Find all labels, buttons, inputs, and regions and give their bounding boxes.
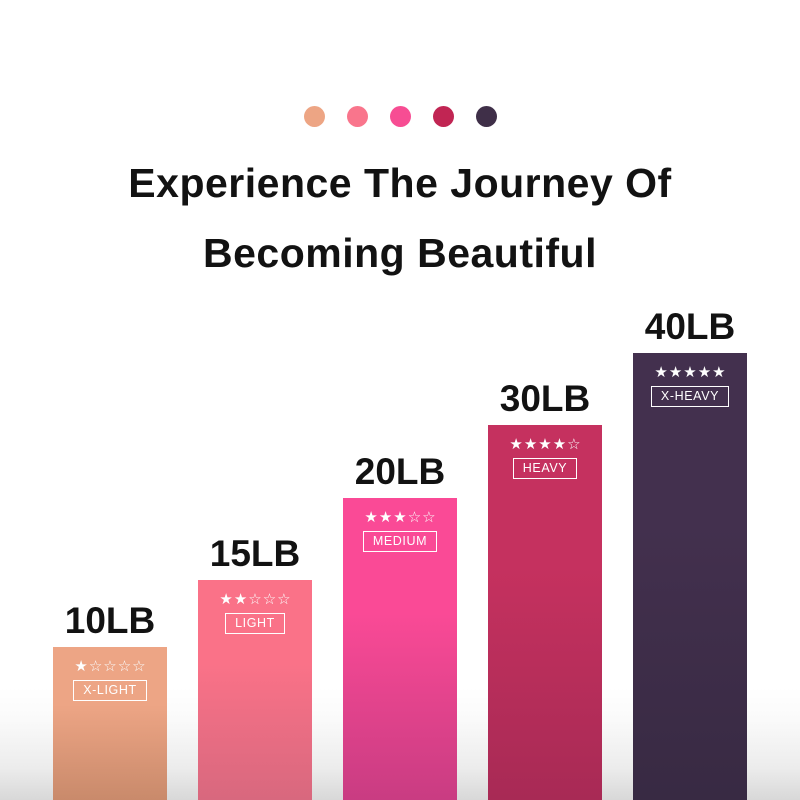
star-filled-icon: ★ <box>219 592 232 608</box>
star-empty-icon: ☆ <box>422 510 435 526</box>
resistance-level-badge: LIGHT <box>225 613 285 634</box>
star-filled-icon: ★ <box>669 365 682 381</box>
bar-fill <box>633 353 747 800</box>
star-filled-icon: ★ <box>524 437 537 453</box>
bar-value-label: 15LB <box>210 533 300 575</box>
bar-column[interactable]: ★★★★★X-HEAVY <box>633 353 747 800</box>
star-filled-icon: ★ <box>393 510 406 526</box>
rating-stars: ★★★☆☆ <box>364 510 435 526</box>
bar-fill <box>488 425 602 800</box>
bar-badge: ★★☆☆☆LIGHT <box>198 592 312 634</box>
rating-stars: ★★★★☆ <box>509 437 580 453</box>
rating-stars: ★★★★★ <box>654 365 725 381</box>
star-empty-icon: ☆ <box>408 510 421 526</box>
infographic-canvas: Experience The Journey Of Becoming Beaut… <box>0 0 800 800</box>
bar-group-10lb[interactable]: 10LB★☆☆☆☆X-LIGHT <box>53 595 167 800</box>
star-filled-icon: ★ <box>698 365 711 381</box>
star-filled-icon: ★ <box>234 592 247 608</box>
bar-badge: ★☆☆☆☆X-LIGHT <box>53 659 167 701</box>
star-filled-icon: ★ <box>74 659 87 675</box>
resistance-level-badge: MEDIUM <box>363 531 437 552</box>
star-empty-icon: ☆ <box>277 592 290 608</box>
star-empty-icon: ☆ <box>248 592 261 608</box>
bar-column[interactable]: ★★☆☆☆LIGHT <box>198 580 312 800</box>
resistance-level-badge: X-LIGHT <box>73 680 147 701</box>
bar-column[interactable]: ★★★☆☆MEDIUM <box>343 498 457 800</box>
bar-group-15lb[interactable]: 15LB★★☆☆☆LIGHT <box>198 528 312 800</box>
star-filled-icon: ★ <box>364 510 377 526</box>
star-filled-icon: ★ <box>538 437 551 453</box>
bar-group-30lb[interactable]: 30LB★★★★☆HEAVY <box>488 373 602 800</box>
star-empty-icon: ☆ <box>103 659 116 675</box>
resistance-level-badge: HEAVY <box>513 458 577 479</box>
star-filled-icon: ★ <box>553 437 566 453</box>
resistance-level-badge: X-HEAVY <box>651 386 729 407</box>
star-empty-icon: ☆ <box>118 659 131 675</box>
star-empty-icon: ☆ <box>132 659 145 675</box>
star-empty-icon: ☆ <box>263 592 276 608</box>
bar-badge: ★★★☆☆MEDIUM <box>343 510 457 552</box>
bar-group-20lb[interactable]: 20LB★★★☆☆MEDIUM <box>343 446 457 800</box>
star-empty-icon: ☆ <box>567 437 580 453</box>
resistance-band-bar-chart: 10LB★☆☆☆☆X-LIGHT15LB★★☆☆☆LIGHT20LB★★★☆☆M… <box>0 0 800 800</box>
bar-badge: ★★★★☆HEAVY <box>488 437 602 479</box>
bar-value-label: 10LB <box>65 600 155 642</box>
bar-value-label: 30LB <box>500 378 590 420</box>
bar-badge: ★★★★★X-HEAVY <box>633 365 747 407</box>
bar-value-label: 20LB <box>355 451 445 493</box>
star-filled-icon: ★ <box>712 365 725 381</box>
star-filled-icon: ★ <box>509 437 522 453</box>
bar-group-40lb[interactable]: 40LB★★★★★X-HEAVY <box>633 301 747 800</box>
rating-stars: ★☆☆☆☆ <box>74 659 145 675</box>
rating-stars: ★★☆☆☆ <box>219 592 290 608</box>
bar-column[interactable]: ★★★★☆HEAVY <box>488 425 602 800</box>
star-filled-icon: ★ <box>683 365 696 381</box>
bar-value-label: 40LB <box>645 306 735 348</box>
star-filled-icon: ★ <box>379 510 392 526</box>
bar-column[interactable]: ★☆☆☆☆X-LIGHT <box>53 647 167 800</box>
star-empty-icon: ☆ <box>89 659 102 675</box>
star-filled-icon: ★ <box>654 365 667 381</box>
